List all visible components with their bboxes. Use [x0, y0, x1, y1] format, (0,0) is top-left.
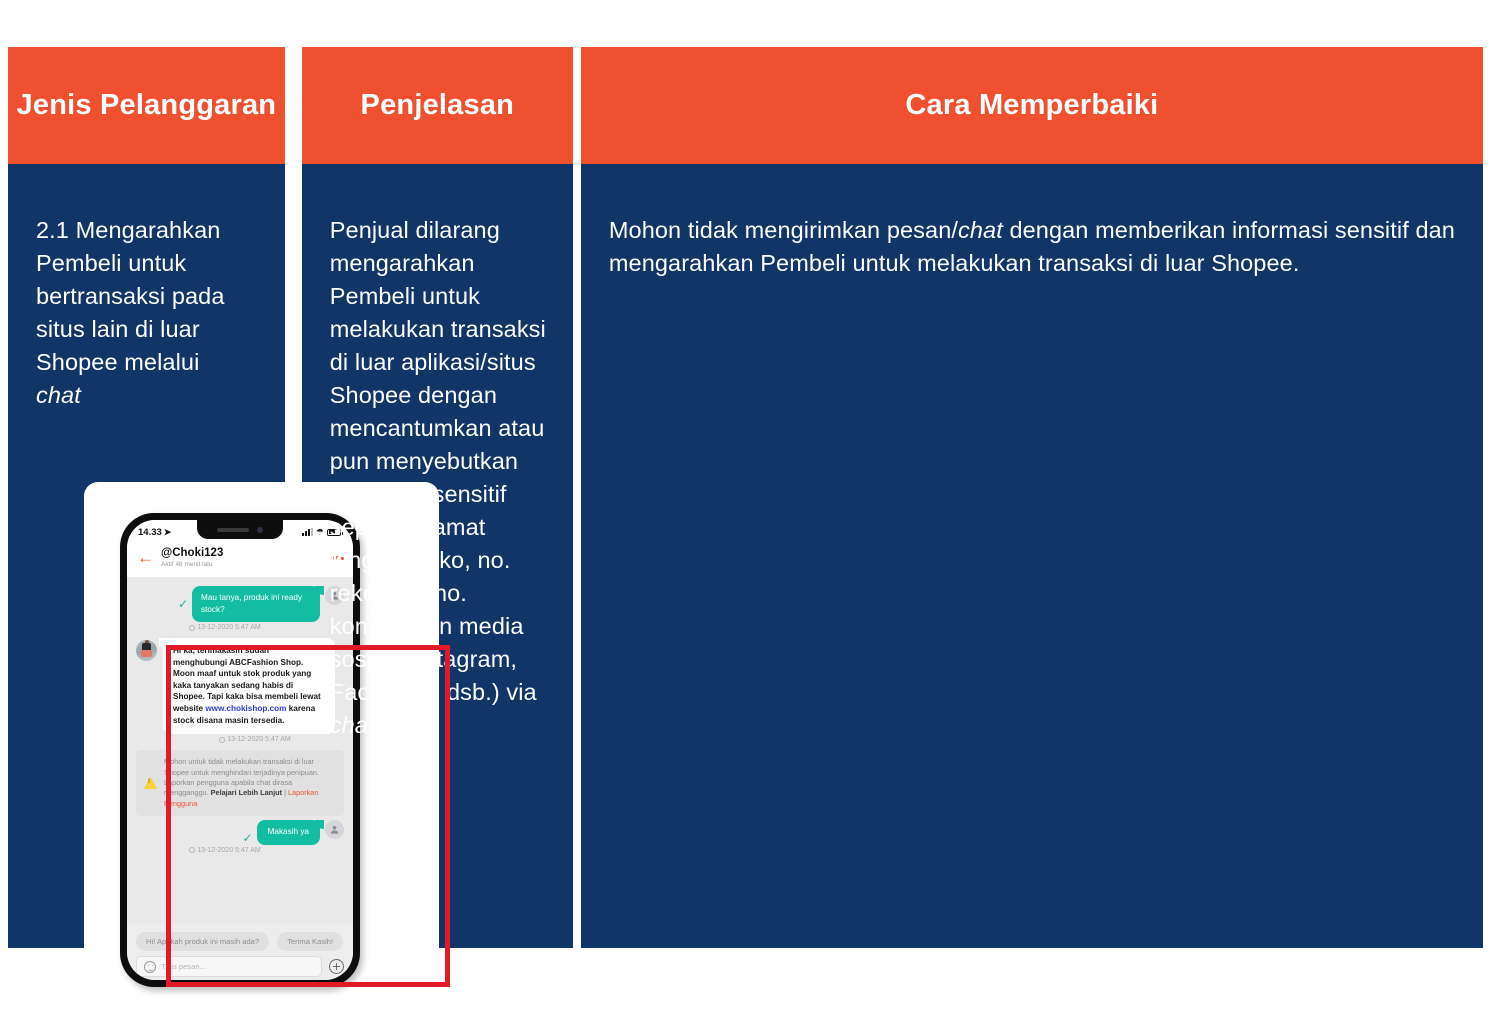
- plus-circle-icon[interactable]: [329, 959, 344, 974]
- violation-description: 2.1 Mengarahkan Pembeli untuk bertransak…: [36, 214, 251, 412]
- column-header-1-label: Jenis Pelanggaran: [17, 89, 277, 122]
- chat-username[interactable]: @Choki123: [161, 546, 223, 560]
- notch-camera: [257, 527, 263, 533]
- message-input[interactable]: Tulis pesan...: [136, 956, 322, 977]
- avatar-legs: [141, 650, 152, 657]
- message-input-placeholder: Tulis pesan...: [161, 962, 206, 971]
- chat-contact-info: @Choki123 Aktif 48 menit lalu: [161, 546, 223, 570]
- message-text-part-1: Hi ka, terimakasih sudah menghubungi ABC…: [173, 646, 321, 713]
- column-header-1: Jenis Pelanggaran: [8, 47, 285, 164]
- seller-photo-avatar: [136, 640, 157, 661]
- timestamp-text: 13-12-2020 5:47 AM: [197, 624, 260, 631]
- violation-table: Jenis Pelanggaran 2.1 Mengarahkan Pembel…: [8, 47, 1483, 948]
- timestamp-text: 13-12-2020 5:47 AM: [197, 847, 260, 854]
- column-body-3: Mohon tidak mengirimkan pesan/chat denga…: [581, 164, 1483, 948]
- explanation-text: Penjual dilarang mengarahkan Pembeli unt…: [330, 214, 547, 742]
- column-header-3: Cara Memperbaiki: [581, 47, 1483, 164]
- notch-speaker: [217, 528, 249, 532]
- phone-notch: [197, 520, 283, 539]
- column-cara-memperbaiki: Cara Memperbaiki Mohon tidak mengirimkan…: [581, 47, 1483, 948]
- column-penjelasan: Penjelasan Penjual dilarang mengarahkan …: [302, 47, 573, 948]
- clock-icon: [219, 737, 225, 743]
- back-arrow-icon[interactable]: ←: [137, 549, 154, 566]
- timestamp-text: 13-12-2020 5:47 AM: [227, 736, 290, 743]
- column-jenis-pelanggaran: Jenis Pelanggaran 2.1 Mengarahkan Pembel…: [8, 47, 285, 948]
- column-header-2: Penjelasan: [302, 47, 573, 164]
- status-bar-left: 14.33 ➤: [138, 527, 171, 538]
- column-body-2: Penjual dilarang mengarahkan Pembeli unt…: [302, 164, 573, 948]
- column-header-3-label: Cara Memperbaiki: [905, 89, 1158, 122]
- chat-input-bar: Tulis pesan...: [127, 956, 353, 980]
- quick-reply-chip[interactable]: Hi! Apakah produk ini masih ada?: [136, 932, 269, 951]
- smiley-icon[interactable]: [144, 961, 156, 973]
- location-arrow-icon: ➤: [164, 527, 172, 538]
- column-header-2-label: Penjelasan: [361, 89, 515, 122]
- column-body-1: 2.1 Mengarahkan Pembeli untuk bertransak…: [8, 164, 285, 948]
- clock-icon: [189, 625, 195, 631]
- remedy-text: Mohon tidak mengirimkan pesan/chat denga…: [609, 214, 1457, 280]
- status-bar-time: 14.33: [138, 527, 162, 538]
- clock-icon: [189, 847, 195, 853]
- column-divider-2: [573, 47, 581, 948]
- check-icon: ✓: [243, 832, 253, 844]
- chat-last-active: Aktif 48 menit lalu: [161, 560, 223, 570]
- check-icon: ✓: [178, 598, 188, 610]
- learn-more-link[interactable]: Pelajari Lebih Lanjut: [211, 788, 282, 797]
- warning-triangle-icon: [144, 777, 157, 789]
- external-website-link[interactable]: www.chokishop.com: [205, 704, 286, 713]
